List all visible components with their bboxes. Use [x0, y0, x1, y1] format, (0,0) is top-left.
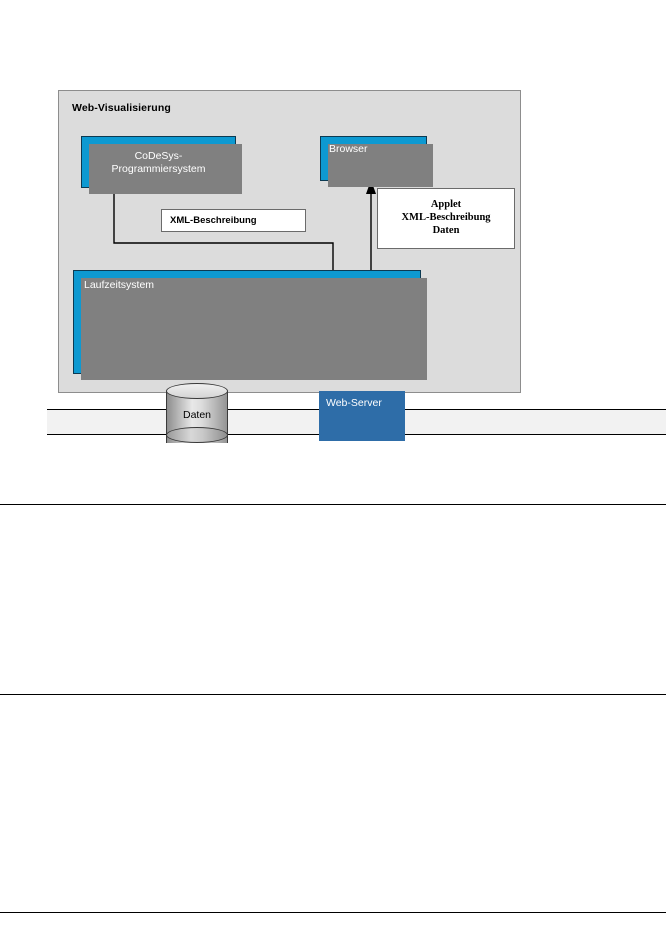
horizontal-rule-1: [0, 504, 666, 505]
note-xml-beschreibung: XML-Beschreibung: [161, 209, 306, 232]
block-laufzeitsystem-label: Laufzeitsystem: [84, 279, 154, 292]
note-applet-label: Applet XML-Beschreibung Daten: [378, 198, 514, 237]
database-label: Daten: [166, 409, 228, 421]
figure-container: Web-Visualisierung CoDeSys- Programmiers…: [58, 90, 521, 393]
horizontal-rule-2: [0, 694, 666, 695]
database-cylinder-icon: Daten: [166, 383, 228, 451]
block-codesys-label: CoDeSys- Programmiersystem: [82, 150, 235, 175]
database-top-ellipse: [166, 383, 228, 399]
horizontal-rule-3: [0, 912, 666, 913]
database-bottom-ellipse: [166, 427, 228, 443]
note-applet: Applet XML-Beschreibung Daten: [377, 188, 515, 249]
block-web-server-label: Web-Server: [326, 397, 382, 409]
block-web-server[interactable]: Web-Server: [319, 391, 405, 441]
block-browser-label: Browser: [329, 143, 368, 156]
block-browser[interactable]: Browser: [320, 136, 427, 181]
block-codesys-programming-system[interactable]: CoDeSys- Programmiersystem: [81, 136, 236, 188]
note-xml-label: XML-Beschreibung: [170, 215, 257, 226]
block-laufzeitsystem[interactable]: Laufzeitsystem Daten Web-Server: [73, 270, 421, 374]
